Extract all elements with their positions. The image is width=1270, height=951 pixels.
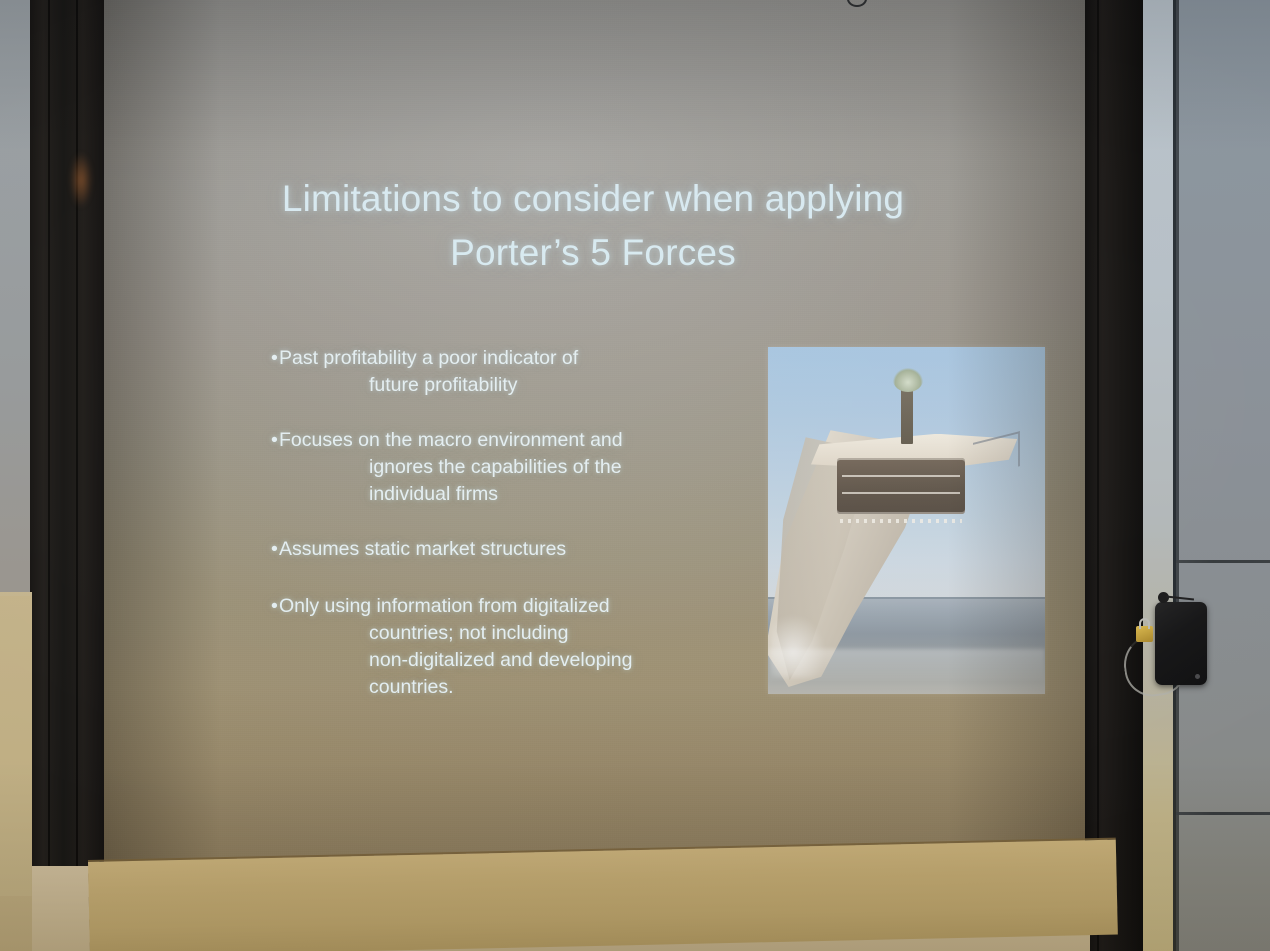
padlock-icon[interactable]	[1136, 626, 1153, 642]
bullet-line: countries; not including	[279, 620, 691, 647]
frame-groove	[1097, 0, 1099, 951]
slide-bullet-list: • Past profitability a poor indicator of…	[271, 345, 691, 729]
bullet-line: non-digitalized and developing	[279, 647, 691, 674]
key-safe-antenna	[1158, 592, 1192, 602]
bullet-marker: •	[271, 536, 278, 563]
padlock-shackle	[1139, 618, 1150, 629]
frame-groove	[76, 0, 78, 951]
screen-frame-right	[1085, 0, 1143, 951]
bullet-marker: •	[271, 593, 278, 620]
frame-groove	[48, 0, 50, 951]
bullet-line: Past profitability a poor indicator of	[279, 345, 691, 372]
wall-seam-horizontal-upper	[1175, 560, 1270, 563]
status-led-icon	[1195, 674, 1200, 679]
photo-ship-mast-light	[893, 368, 923, 392]
frame-light-reflection	[70, 152, 92, 208]
ship-bow-photo	[768, 347, 1045, 694]
bullet-line: future profitability	[279, 372, 691, 399]
bullet-text: Only using information from digitalized …	[271, 593, 691, 701]
photo-ship-deck-face	[837, 458, 964, 514]
bullet-line: Only using information from digitalized	[279, 593, 691, 620]
bullet-line: ignores the capabilities of the	[279, 454, 691, 481]
list-item: • Only using information from digitalize…	[271, 593, 691, 701]
bullet-text: Focuses on the macro environment and ign…	[271, 427, 691, 508]
list-item: • Focuses on the macro environment and i…	[271, 427, 691, 508]
screen-frame-left	[30, 0, 104, 951]
bullet-marker: •	[271, 427, 278, 454]
antenna-wire	[1166, 596, 1194, 601]
bullet-line: countries.	[279, 674, 691, 701]
photo-deck-slat	[842, 492, 959, 494]
bullet-line: individual firms	[279, 481, 691, 508]
bullet-marker: •	[271, 345, 278, 372]
door-jamb-strip	[1142, 0, 1176, 951]
photo-surf	[768, 649, 1045, 680]
bullet-line: Focuses on the macro environment and	[279, 427, 691, 454]
slide-title: Limitations to consider when applying Po…	[243, 172, 943, 279]
slide-title-line-2: Porter’s 5 Forces	[243, 226, 943, 280]
photo-ship-rivets	[840, 519, 962, 523]
bullet-text: Past profitability a poor indicator of f…	[271, 345, 691, 399]
list-item: • Assumes static market structures	[271, 536, 691, 563]
wall-key-safe[interactable]	[1155, 602, 1207, 685]
bullet-line: Assumes static market structures	[279, 536, 691, 563]
photo-scene: Limitations to consider when applying Po…	[0, 0, 1270, 951]
wall-seam-vertical	[1176, 0, 1179, 951]
photo-deck-slat	[842, 475, 959, 477]
wall-seam-horizontal-lower	[1175, 812, 1270, 815]
projection-screen: Limitations to consider when applying Po…	[103, 0, 1085, 951]
bullet-text: Assumes static market structures	[271, 536, 691, 563]
list-item: • Past profitability a poor indicator of…	[271, 345, 691, 399]
slide-title-line-1: Limitations to consider when applying	[243, 172, 943, 226]
